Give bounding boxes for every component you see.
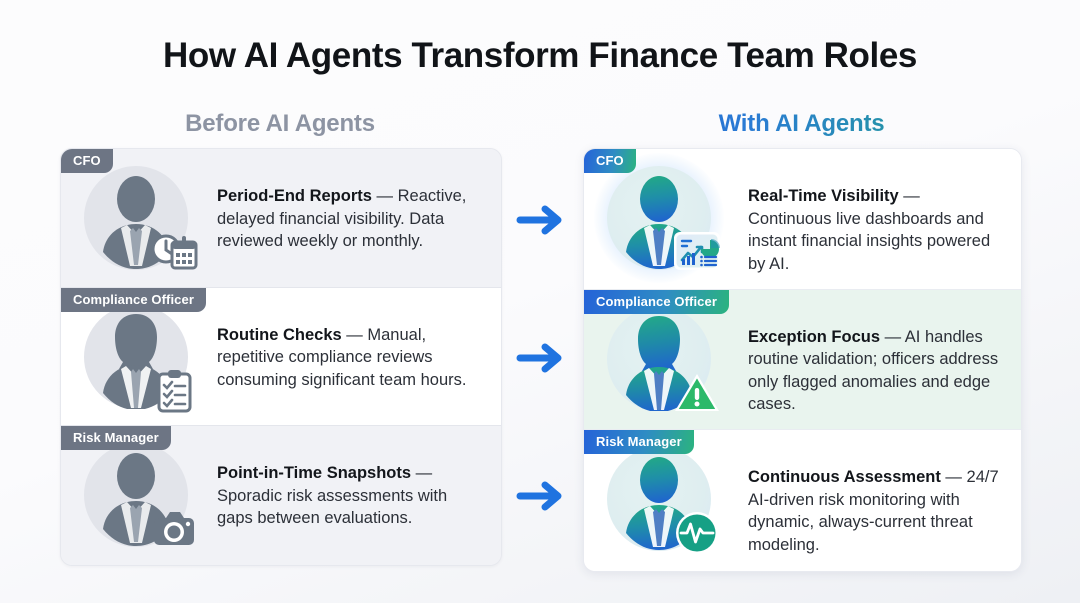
role-badge-risk-before: Risk Manager bbox=[61, 426, 171, 450]
row-dash: — bbox=[372, 187, 398, 205]
row-headline: Continuous Assessment bbox=[748, 468, 941, 486]
row-text: Real-Time Visibility — Continuous live d… bbox=[734, 149, 1021, 275]
role-badge-compliance-before: Compliance Officer bbox=[61, 288, 206, 312]
alert-triangle-icon bbox=[673, 369, 721, 415]
arrow-right-icon bbox=[515, 341, 567, 375]
with-ai-panel: CFO bbox=[583, 148, 1022, 572]
row-dash: — bbox=[899, 187, 920, 205]
column-heading-before: Before AI Agents bbox=[60, 110, 500, 138]
table-row[interactable]: Risk Manager bbox=[584, 430, 1021, 571]
row-text: Routine Checks — Manual, repetitive comp… bbox=[211, 288, 501, 392]
row-headline: Point-in-Time Snapshots bbox=[217, 464, 411, 482]
row-body: Continuous live dashboards and instant f… bbox=[748, 210, 990, 273]
column-heading-with: With AI Agents bbox=[583, 110, 1020, 138]
row-body: Sporadic risk assessments with gaps betw… bbox=[217, 487, 447, 528]
arrow-right-icon bbox=[515, 479, 567, 513]
role-badge-compliance-with: Compliance Officer bbox=[584, 290, 729, 314]
table-row[interactable]: Compliance Officer bbox=[584, 290, 1021, 431]
pulse-heartbeat-icon bbox=[673, 509, 721, 555]
row-dash: — bbox=[411, 464, 432, 482]
table-row[interactable]: CFO bbox=[584, 149, 1021, 290]
table-row[interactable]: Risk Manager bbox=[61, 426, 501, 565]
row-text: Point-in-Time Snapshots — Sporadic risk … bbox=[211, 426, 501, 530]
dashboard-analytics-icon bbox=[673, 228, 721, 274]
table-row[interactable]: Compliance Officer bbox=[61, 288, 501, 427]
row-text: Continuous Assessment — 24/7 AI-driven r… bbox=[734, 430, 1021, 556]
row-dash: — bbox=[941, 468, 967, 486]
row-dash: — bbox=[880, 328, 905, 346]
row-headline: Real-Time Visibility bbox=[748, 187, 899, 205]
row-headline: Routine Checks bbox=[217, 326, 342, 344]
row-headline: Period-End Reports bbox=[217, 187, 372, 205]
infographic-canvas: How AI Agents Transform Finance Team Rol… bbox=[0, 0, 1080, 603]
row-headline: Exception Focus bbox=[748, 328, 880, 346]
row-text: Exception Focus — AI handles routine val… bbox=[734, 290, 1021, 416]
role-badge-cfo-with: CFO bbox=[584, 149, 636, 173]
role-badge-cfo-before: CFO bbox=[61, 149, 113, 173]
row-text: Period-End Reports — Reactive, delayed f… bbox=[211, 149, 501, 253]
page-title: How AI Agents Transform Finance Team Rol… bbox=[0, 36, 1080, 76]
clock-calendar-icon bbox=[150, 228, 198, 274]
clipboard-checklist-icon bbox=[150, 367, 198, 413]
arrow-right-icon bbox=[515, 203, 567, 237]
camera-icon bbox=[150, 505, 198, 551]
before-panel: CFO bbox=[60, 148, 502, 566]
role-badge-risk-with: Risk Manager bbox=[584, 430, 694, 454]
row-dash: — bbox=[342, 326, 368, 344]
table-row[interactable]: CFO bbox=[61, 149, 501, 288]
